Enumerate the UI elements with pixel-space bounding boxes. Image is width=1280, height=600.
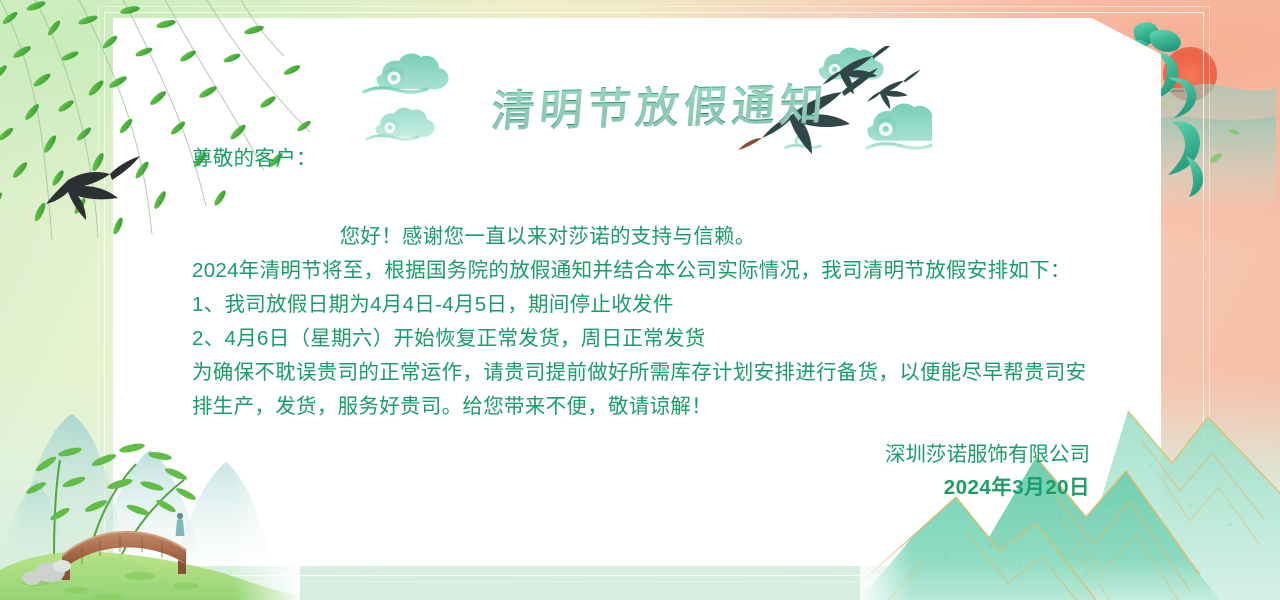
- body-paragraphs: 您好！感谢您一直以来对莎诺的支持与信赖。 2024年清明节将至，根据国务院的放假…: [192, 220, 1090, 424]
- poster-title-text: 清明节放假通知: [453, 70, 831, 140]
- signature-company: 深圳莎诺服饰有限公司: [192, 438, 1090, 471]
- qingming-holiday-notice-poster: 清明节放假通知: [0, 0, 1280, 600]
- body-paragraph-2: 2024年清明节将至，根据国务院的放假通知并结合本公司实际情况，我司清明节放假安…: [192, 254, 1090, 288]
- letter-body: 尊敬的客户： 您好！感谢您一直以来对莎诺的支持与信赖。 2024年清明节将至，根…: [192, 142, 1090, 424]
- signature-date: 2024年3月20日: [192, 471, 1090, 504]
- salutation: 尊敬的客户：: [192, 142, 1090, 176]
- body-item-2: 2、4月6日（星期六）开始恢复正常发货，周日正常发货: [192, 322, 1090, 356]
- body-paragraph-3: 为确保不耽误贵司的正常运作，请贵司提前做好所需库存计划安排进行备货，以便能尽早帮…: [192, 356, 1090, 424]
- body-item-1: 1、我司放假日期为4月4日-4月5日，期间停止收发件: [192, 288, 1090, 322]
- body-paragraph-1: 您好！感谢您一直以来对莎诺的支持与信赖。: [192, 220, 1090, 254]
- signature-block: 深圳莎诺服饰有限公司 2024年3月20日: [192, 438, 1152, 504]
